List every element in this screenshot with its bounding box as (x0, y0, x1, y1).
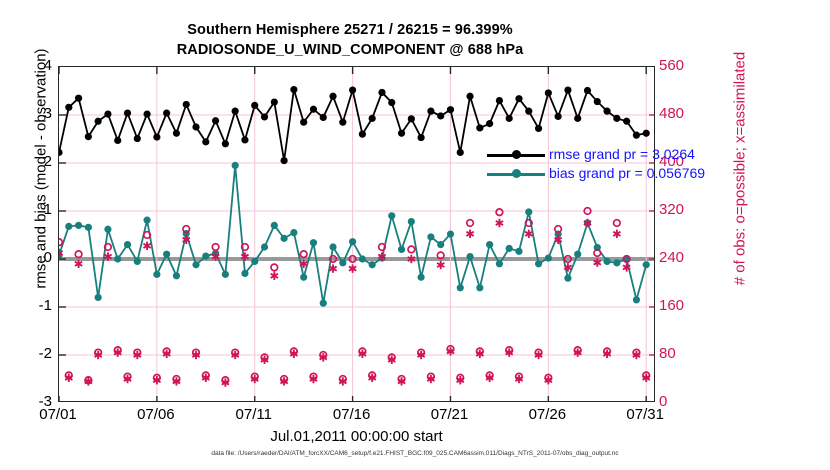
y-tick-2: 2 (6, 153, 52, 170)
y2-tick-160: 160 (659, 297, 711, 314)
x-tick-07-26: 07/26 (529, 406, 567, 423)
legend-marker-bias (512, 169, 521, 178)
x-tick-07-21: 07/21 (431, 406, 469, 423)
x-tick-07-31: 07/31 (626, 406, 664, 423)
y-tick--2: -2 (6, 345, 52, 362)
y-tick-3: 3 (6, 105, 52, 122)
x-tick-07-01: 07/01 (39, 406, 77, 423)
x-tick-07-06: 07/06 (137, 406, 175, 423)
data-file-caption: data file: /Users/raeder/DAI/ATM_forcXX/… (0, 450, 830, 457)
x-axis-tick-labels: 07/0107/0607/1107/1607/2107/2607/31 (58, 406, 655, 428)
y-tick--1: -1 (6, 297, 52, 314)
y2-tick-480: 480 (659, 105, 711, 122)
chart-title-line2: RADIOSONDE_U_WIND_COMPONENT @ 688 hPa (0, 42, 700, 58)
y-axis-tick-labels: -3-2-101234 (0, 66, 52, 402)
y2-tick-560: 560 (659, 57, 711, 74)
legend-label-bias: bias grand pr = 0.056769 (549, 165, 705, 181)
y-tick-0: 0 (6, 249, 52, 266)
y2-tick-80: 80 (659, 345, 711, 362)
x-axis-title: Jul.01,2011 00:00:00 start (58, 428, 655, 445)
y2-tick-240: 240 (659, 249, 711, 266)
plot-layer (59, 67, 654, 401)
x-tick-07-16: 07/16 (333, 406, 371, 423)
legend-item-bias: bias grand pr = 0.056769 (487, 165, 717, 184)
y-tick-1: 1 (6, 201, 52, 218)
chart-figure: Southern Hemisphere 25271 / 26215 = 96.3… (0, 0, 830, 470)
y2-tick-320: 320 (659, 201, 711, 218)
y-tick-4: 4 (6, 57, 52, 74)
plot-area: rmse grand pr = 3.0264 bias grand pr = 0… (58, 66, 655, 402)
x-tick-07-11: 07/11 (236, 406, 272, 423)
data-series-layer (59, 67, 654, 401)
legend-label-rmse: rmse grand pr = 3.0264 (549, 146, 695, 162)
y2-axis-title: # of obs: o=possible; x=assimilated (732, 0, 749, 339)
legend-marker-rmse (512, 150, 521, 159)
y2-axis-tick-labels: 080160240320400480560 (659, 66, 719, 402)
y2-tick-0: 0 (659, 393, 711, 410)
chart-title-line1: Southern Hemisphere 25271 / 26215 = 96.3… (0, 22, 700, 38)
chart-legend: rmse grand pr = 3.0264 bias grand pr = 0… (487, 146, 717, 184)
legend-item-rmse: rmse grand pr = 3.0264 (487, 146, 717, 165)
